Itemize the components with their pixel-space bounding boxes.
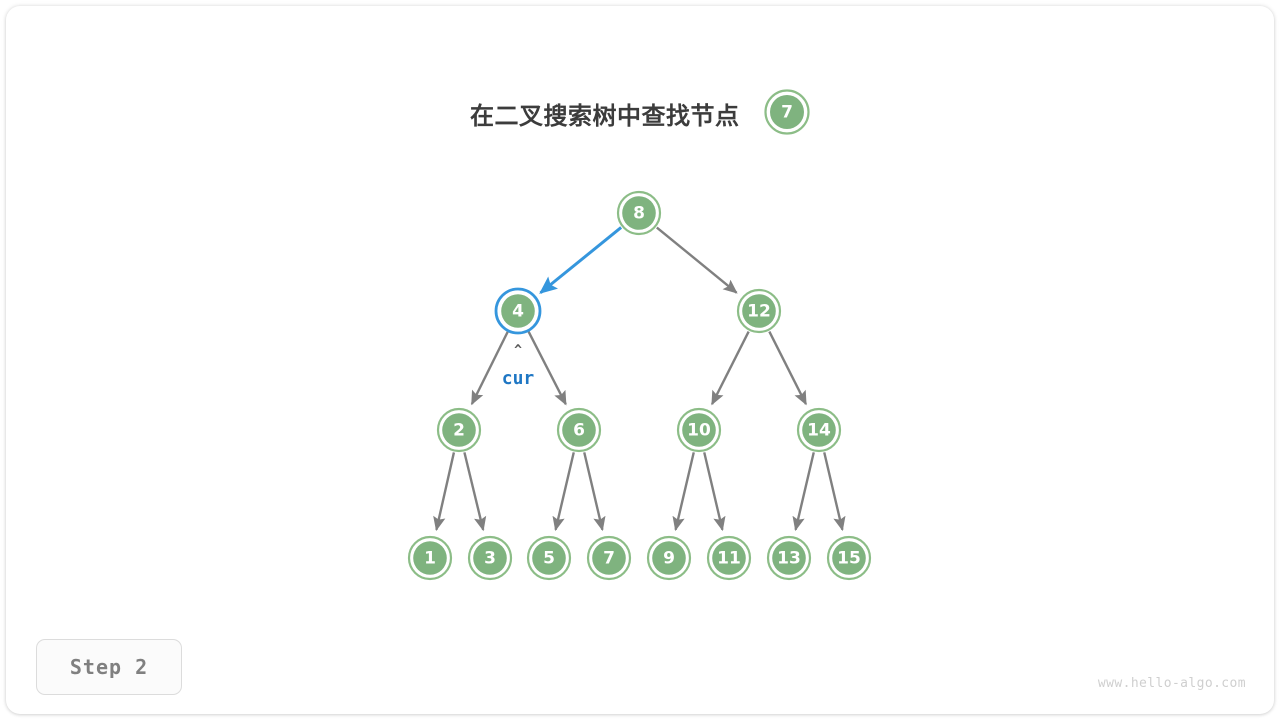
tree-edge [676,452,694,529]
tree-edge [584,452,602,529]
tree-node-fill [742,294,776,328]
tree-node-fill [413,541,447,575]
tree-node-fill [622,196,656,230]
watermark: www.hello-algo.com [1098,676,1246,691]
tree-node: 6 [558,409,600,451]
binary-search-tree: 841226101413579111315 ^ cur [0,0,1280,720]
tree-edge [769,332,806,405]
tree-node: 14 [798,409,840,451]
tree-node: 12 [738,290,780,332]
tree-node-fill [442,413,476,447]
tree-edge [796,452,814,529]
tree-edge [556,452,574,529]
tree-node-layer: 841226101413579111315 [409,192,870,579]
tree-edge-layer [436,227,842,529]
tree-node: 15 [828,537,870,579]
tree-node-fill [532,541,566,575]
tree-edge [712,332,749,405]
tree-node-fill [562,413,596,447]
cur-caret-icon: ^ [514,343,522,358]
step-badge-label: Step 2 [70,655,148,679]
tree-node-fill [473,541,507,575]
tree-node: 9 [648,537,690,579]
tree-node-fill [712,541,746,575]
tree-node: 2 [438,409,480,451]
tree-node-fill [772,541,806,575]
cur-pointer-label: cur [502,368,535,389]
diagram-stage: 在二叉搜索树中查找节点 7 84122610141357911131 [0,0,1280,720]
tree-edge [704,452,722,529]
tree-node-fill [652,541,686,575]
tree-node: 8 [618,192,660,234]
tree-edge [436,452,454,529]
tree-node-fill [592,541,626,575]
tree-node-fill [802,413,836,447]
tree-edge [657,228,737,293]
step-badge: Step 2 [36,639,182,695]
tree-node: 11 [708,537,750,579]
tree-edge-active [541,227,622,292]
tree-node: 7 [588,537,630,579]
tree-node: 13 [768,537,810,579]
tree-node-fill [832,541,866,575]
tree-edge [824,452,842,529]
tree-node: 5 [528,537,570,579]
cur-pointer: ^ cur [502,343,535,389]
tree-node: 10 [678,409,720,451]
tree-node: 3 [469,537,511,579]
diagram-canvas: 在二叉搜索树中查找节点 7 84122610141357911131 [0,0,1280,720]
tree-edge [464,452,483,529]
tree-node-fill [682,413,716,447]
tree-node: 1 [409,537,451,579]
tree-node: 4 [496,289,540,333]
tree-node-fill [501,294,535,328]
